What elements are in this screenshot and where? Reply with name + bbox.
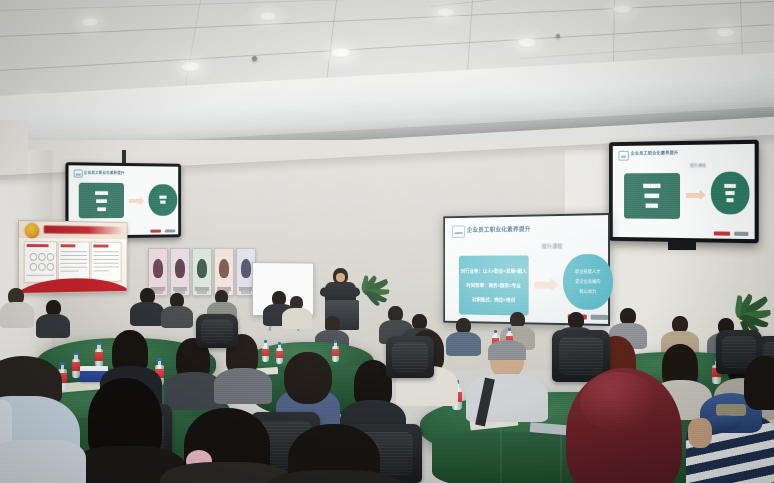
wall-poster — [192, 248, 212, 296]
office-chair — [196, 314, 238, 348]
presenter-face — [336, 273, 345, 282]
slide-box: ██████ █████ ████ — [79, 183, 124, 219]
info-board-panel — [24, 241, 57, 283]
slide-header: 企业员工职业化素养提升 — [467, 224, 531, 234]
slide-circle: █████ ████ ███ — [711, 172, 750, 215]
slide-surface-right: 企业员工职业化素养提升 提升课程 ███████ ██████ █████ ██… — [613, 144, 755, 239]
water-bottle — [276, 342, 283, 364]
info-board-title-banner — [44, 225, 123, 234]
info-board-panel — [91, 242, 122, 282]
slide-subtitle: 提升课程 — [690, 163, 706, 169]
slide-circle-line: 核心动力 — [579, 289, 596, 295]
slide-box-line: 时间效率：商务=服务=专业 — [466, 282, 520, 289]
slide-arrow-icon — [686, 189, 706, 202]
ceiling-downlight — [180, 62, 202, 72]
water-bottle — [72, 352, 80, 378]
slide-arrow-icon — [534, 277, 558, 294]
ceiling-downlight — [330, 48, 352, 58]
slide-box-line: 对行业务：以人=职业=发展=融入 — [461, 268, 527, 275]
wall-poster — [170, 248, 190, 296]
slide-header: 企业员工职业化素养提升 — [631, 150, 679, 157]
ceiling-downlight — [80, 18, 100, 27]
conference-room-photo: 企业员工职业化素养提升 ██████ █████ ████ ████ ███ — [0, 0, 774, 483]
cloth-fold — [500, 430, 502, 482]
ceiling-downlight — [714, 28, 736, 38]
water-bottle — [95, 342, 103, 367]
slide-circle: ████ ███ — [148, 184, 177, 216]
ceiling-downlight — [258, 12, 278, 21]
attendee-body — [214, 368, 272, 404]
slide-logo-icon — [618, 151, 628, 161]
slide-box: 对行业务：以人=职业=发展=融入 时间效率：商务=服务=专业 对职能式：岗位=培… — [459, 255, 529, 315]
ceiling-downlight — [435, 8, 456, 17]
ceiling-downlight — [612, 5, 633, 14]
sprinkler-head — [252, 56, 257, 61]
slide-circle: 职业技能人才 是企业发展的 核心动力 — [563, 254, 613, 310]
projection-screen: 企业员工职业化素养提升 提升课程 对行业务：以人=职业=发展=融入 时间效率：商… — [443, 213, 610, 326]
cloth-fold — [560, 434, 562, 482]
water-bottle — [332, 340, 339, 362]
slide-logo-icon — [74, 169, 83, 177]
slide-header: 企业员工职业化素养提升 — [84, 170, 125, 175]
info-board-panel — [58, 241, 90, 282]
slide-logo-icon — [452, 225, 465, 237]
office-chair — [386, 336, 434, 378]
slide-box: ███████ ██████ █████ — [624, 173, 680, 219]
attendee-head — [744, 356, 774, 410]
cap-patch — [716, 404, 746, 416]
slide-box-line: 对职能式：岗位=培训 — [472, 296, 515, 303]
water-bottle — [262, 340, 269, 362]
attendee-neck — [688, 418, 712, 448]
hair-highlight — [580, 372, 658, 432]
attendee-hair — [488, 340, 526, 360]
slide-surface-main: 企业员工职业化素养提升 提升课程 对行业务：以人=职业=发展=融入 时间效率：商… — [445, 215, 608, 324]
slide-circle-line: 职业技能人才 — [575, 269, 600, 275]
monitor-stand — [668, 240, 696, 250]
emblem-icon — [25, 223, 39, 238]
wall-info-board — [18, 220, 128, 294]
wall-monitor-right: 企业员工职业化素养提升 提升课程 ███████ ██████ █████ ██… — [609, 140, 759, 244]
attendee-head — [284, 352, 332, 404]
wall-poster — [214, 248, 234, 296]
slide-circle-line: 是企业发展的 — [575, 279, 600, 285]
sprinkler-head — [556, 34, 560, 38]
ceiling-downlight — [516, 38, 538, 48]
slide-arrow-icon — [129, 196, 145, 206]
attendee-body — [0, 440, 86, 483]
upper-left-wall — [0, 120, 28, 180]
slide-subtitle: 提升课程 — [542, 242, 563, 250]
slide-footer — [150, 229, 175, 232]
slide-footer — [714, 231, 749, 236]
